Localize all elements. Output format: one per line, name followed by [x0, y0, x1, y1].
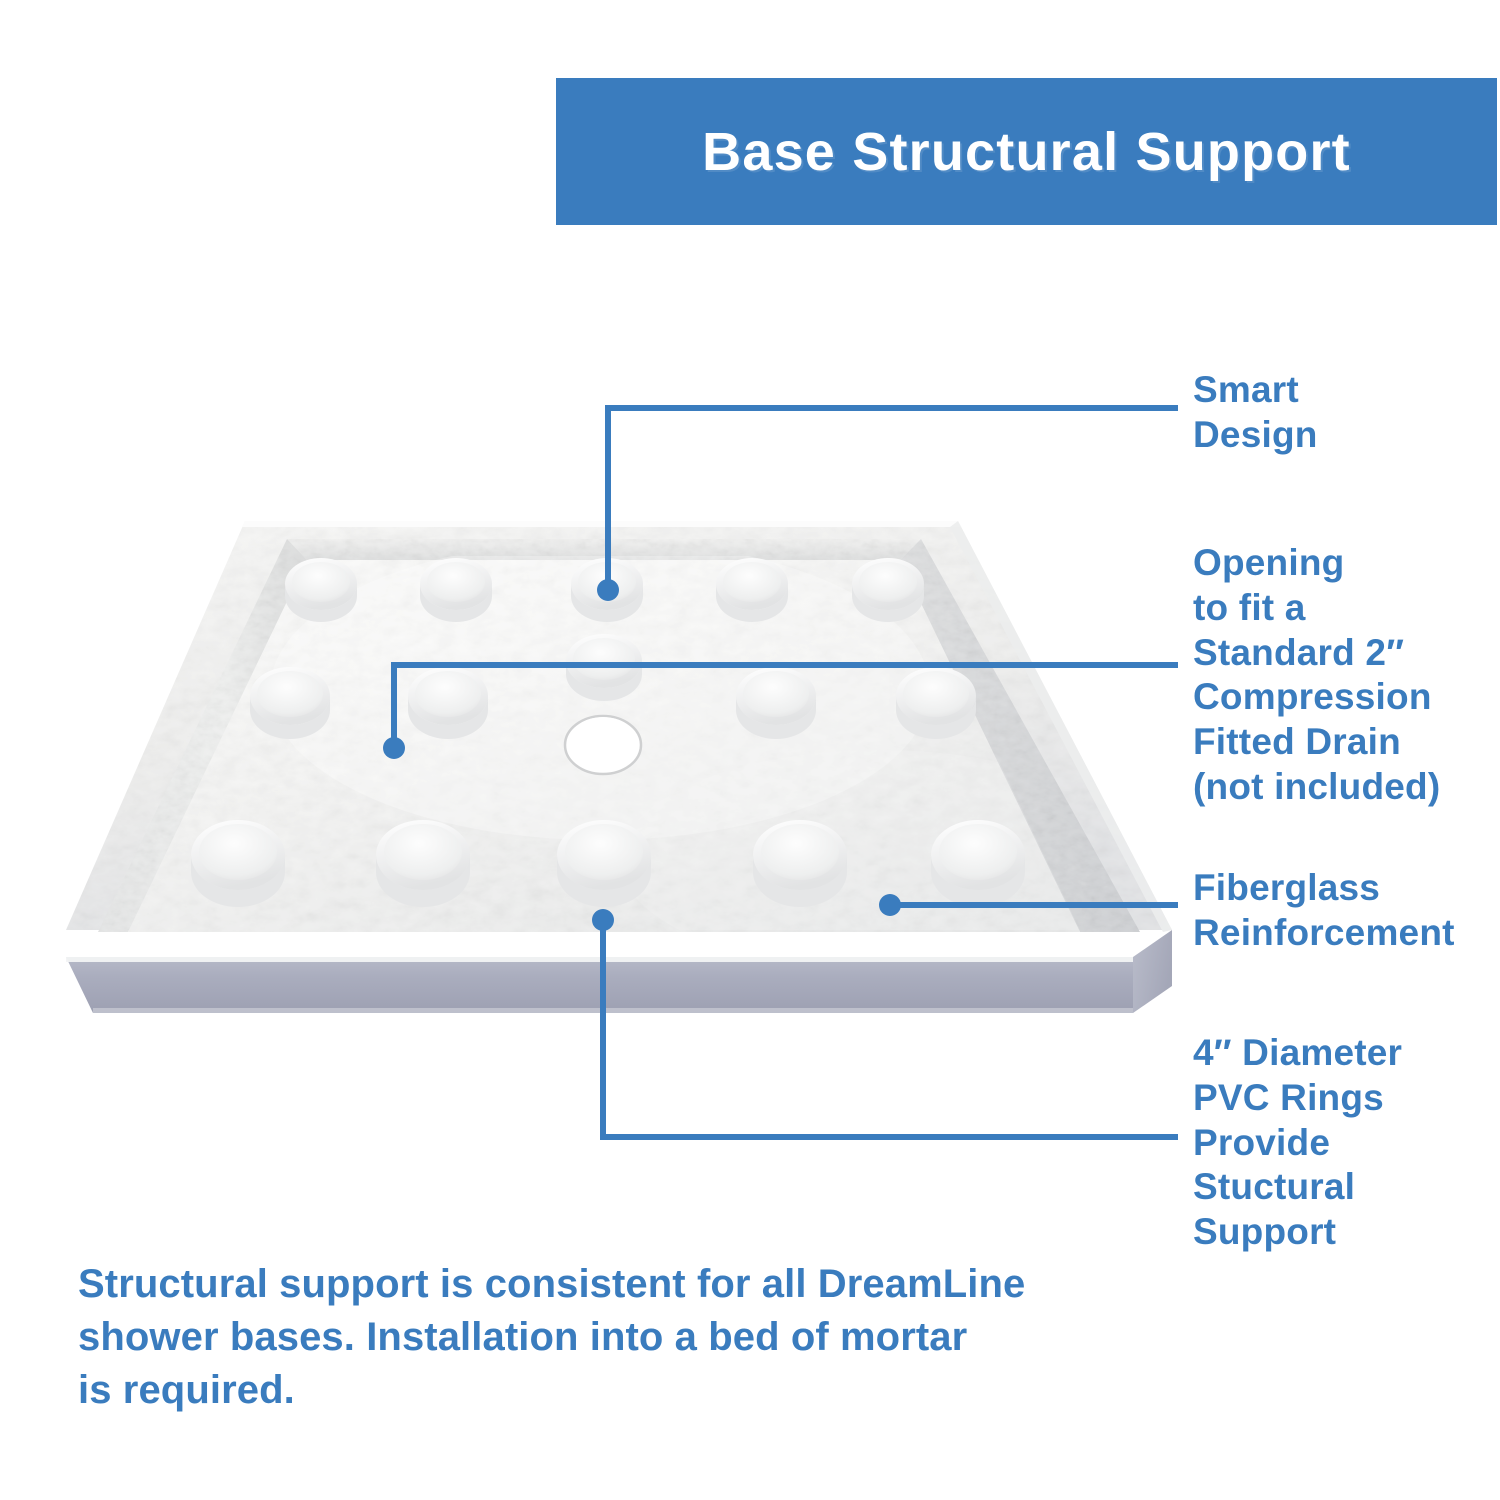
pvc-ring [376, 820, 470, 907]
callout-line: Design [1193, 413, 1318, 458]
leader-dot-opening [383, 737, 405, 759]
callout-line: Fiberglass [1193, 866, 1455, 911]
callout-line: Provide [1193, 1121, 1402, 1166]
pvc-ring [557, 820, 651, 907]
drain-opening [565, 716, 641, 774]
pvc-ring [420, 558, 492, 622]
page-title: Base Structural Support [702, 125, 1351, 179]
callout-line: Stuctural [1193, 1165, 1402, 1210]
callout-fiberglass-reinforcement: Fiberglass Reinforcement [1193, 866, 1455, 956]
pvc-ring [285, 558, 357, 622]
callout-line: 4″ Diameter [1193, 1031, 1402, 1076]
footnote-line: is required. [78, 1364, 1025, 1417]
pvc-ring [852, 558, 924, 622]
callout-opening-drain: Opening to fit a Standard 2″ Compression… [1193, 541, 1440, 810]
callout-line: Standard 2″ [1193, 631, 1440, 676]
callout-line: Opening [1193, 541, 1440, 586]
pvc-ring [191, 820, 285, 907]
callout-line: Compression [1193, 675, 1440, 720]
pvc-ring [250, 667, 330, 739]
footnote-line: Structural support is consistent for all… [78, 1258, 1025, 1311]
pvc-ring [716, 558, 788, 622]
callout-line: (not included) [1193, 765, 1440, 810]
pvc-ring [408, 667, 488, 739]
pvc-ring [896, 667, 976, 739]
callout-smart-design: Smart Design [1193, 368, 1318, 458]
pvc-ring [736, 667, 816, 739]
pvc-ring [931, 820, 1025, 907]
callout-pvc-rings: 4″ Diameter PVC Rings Provide Stuctural … [1193, 1031, 1402, 1255]
leader-dot-smart-design [597, 579, 619, 601]
callout-line: Smart [1193, 368, 1318, 413]
leader-dot-fiberglass [879, 894, 901, 916]
footnote-text: Structural support is consistent for all… [78, 1258, 1025, 1416]
pvc-ring [753, 820, 847, 907]
leader-line-pvc-rings [603, 920, 1175, 1137]
callout-line: Fitted Drain [1193, 720, 1440, 765]
infographic-canvas: Base Structural Support Smart Design Ope… [0, 0, 1500, 1500]
callout-line: Reinforcement [1193, 911, 1455, 956]
footnote-line: shower bases. Installation into a bed of… [78, 1311, 1025, 1364]
callout-line: Support [1193, 1210, 1402, 1255]
callout-line: PVC Rings [1193, 1076, 1402, 1121]
callout-line: to fit a [1193, 586, 1440, 631]
header-banner: Base Structural Support [556, 78, 1497, 225]
leader-dot-pvc-rings [592, 909, 614, 931]
